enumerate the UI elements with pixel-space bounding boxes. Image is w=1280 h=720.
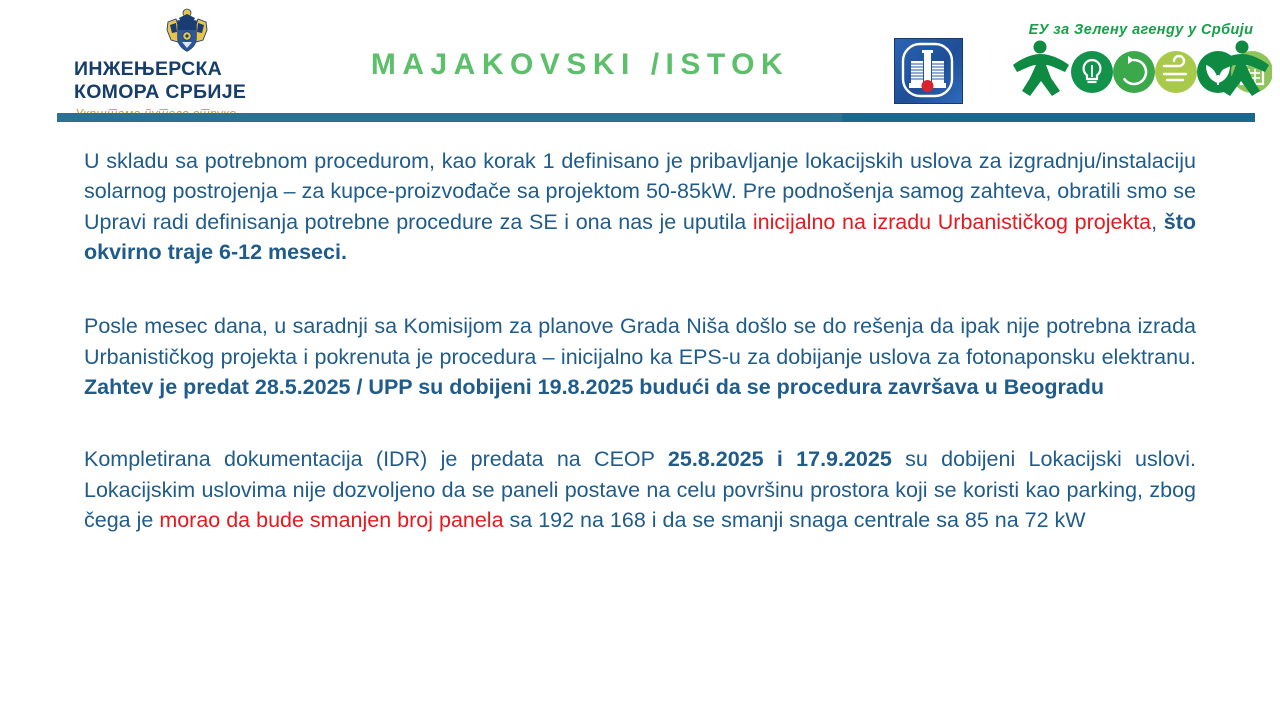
paragraph-3-highlight-red: morao da bude smanjen broj panela [159,508,503,532]
chamber-name-line-2: КОМОРА СРБИЈЕ [72,81,302,104]
institute-building-badge-icon [894,38,963,104]
paragraph-3-segment-1: Kompletirana dokumentacija (IDR) je pred… [84,447,668,471]
paragraph-1-segment-3: , [1151,210,1164,234]
heraldic-shield-crest-icon [72,8,302,54]
header-divider-front [57,113,842,122]
lightbulb-icon [1071,51,1113,93]
paragraph-2-segment-1: Posle mesec dana, u saradnji sa Komisijo… [84,314,1196,368]
recycle-icon [1113,51,1155,93]
clean-air-icon [1155,51,1197,93]
paragraph-2-bold: Zahtev je predat 28.5.2025 / UPP su dobi… [84,375,1104,399]
paragraph-3: Kompletirana dokumentacija (IDR) je pred… [84,444,1196,535]
slide-body: U skladu sa potrebnom procedurom, kao ko… [84,146,1196,535]
slide-header: ИНЖЕЊЕРСКА КОМОРА СРБИЈЕ Укрштамо путеве… [0,0,1280,120]
person-left-icon [1013,41,1069,97]
paragraph-2: Posle mesec dana, u saradnji sa Komisijo… [84,311,1196,402]
paragraph-3-bold: 25.8.2025 i 17.9.2025 [668,447,892,471]
eu-green-agenda-label: ЕУ за Зелену агенду у Србији [1010,22,1272,38]
chamber-name-line-1: ИНЖЕЊЕРСКА [72,58,302,81]
chamber-of-engineers-logo: ИНЖЕЊЕРСКА КОМОРА СРБИЈЕ Укрштамо путеве… [72,8,302,121]
paragraph-1: U skladu sa potrebnom procedurom, kao ko… [84,146,1196,267]
paragraph-3-segment-5: sa 192 na 168 i da se smanji snaga centr… [504,508,1086,532]
paragraph-1-highlight-red: inicijalno na izradu Urbanističkog proje… [753,210,1151,234]
eu-green-agenda-logo: ЕУ за Зелену агенду у Србији [1010,22,1272,108]
page-title: MAJAKOVSKI /ISTOK [330,48,830,82]
